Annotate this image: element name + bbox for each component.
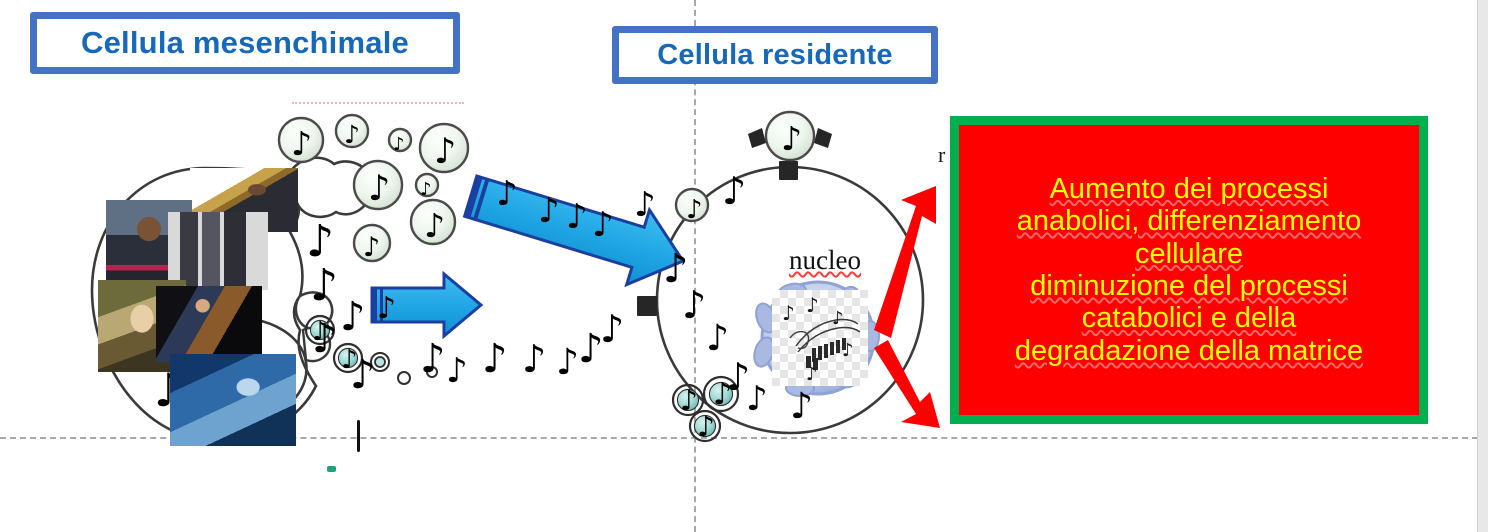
svg-text:♪: ♪ <box>420 336 446 382</box>
svg-text:♪: ♪ <box>446 351 468 391</box>
svg-text:♪: ♪ <box>806 364 818 385</box>
svg-text:♪: ♪ <box>680 384 698 417</box>
saxophone-player-photo <box>170 354 296 446</box>
svg-text:♪: ♪ <box>312 317 329 347</box>
label-cellula-mesenchimale-text: Cellula mesenchimale <box>81 25 409 61</box>
callout-line-6: degradazione della matrice <box>1015 335 1363 367</box>
svg-text:♪: ♪ <box>424 206 445 245</box>
svg-text:♪: ♪ <box>482 336 508 382</box>
svg-text:♪: ♪ <box>566 197 588 237</box>
stray-character: r <box>938 142 945 168</box>
effects-callout-box[interactable]: Aumento dei processi anabolici, differen… <box>950 116 1428 424</box>
svg-text:♪: ♪ <box>393 134 405 155</box>
svg-text:♪: ♪ <box>686 195 703 225</box>
effects-callout-text: Aumento dei processi anabolici, differen… <box>1015 173 1363 368</box>
svg-text:♪: ♪ <box>790 386 813 427</box>
callout-line-1: Aumento dei processi <box>1050 173 1329 205</box>
musician-photo-collage <box>98 168 308 446</box>
nucleus-label: nucleo <box>789 245 861 276</box>
label-cellula-residente-text: Cellula residente <box>657 39 893 72</box>
svg-text:♪: ♪ <box>522 337 546 381</box>
nucleus-label-text: nucleo <box>789 245 861 275</box>
svg-text:♪: ♪ <box>600 307 624 351</box>
svg-text:♪: ♪ <box>538 191 560 231</box>
svg-text:♪: ♪ <box>368 169 390 209</box>
label-cellula-residente[interactable]: Cellula residente <box>612 26 938 84</box>
response-arrows <box>874 186 940 428</box>
svg-text:♪: ♪ <box>363 232 380 263</box>
svg-text:♪: ♪ <box>706 318 729 359</box>
u2-band-photo <box>168 212 268 290</box>
svg-text:♪: ♪ <box>842 340 854 361</box>
stray-teal-mark <box>327 466 336 472</box>
svg-text:♪: ♪ <box>634 185 656 225</box>
label-cellula-mesenchimale[interactable]: Cellula mesenchimale <box>30 12 460 74</box>
svg-text:♪: ♪ <box>340 294 366 340</box>
svg-text:♪: ♪ <box>592 205 614 245</box>
svg-text:♪: ♪ <box>782 301 795 325</box>
svg-text:♪: ♪ <box>496 174 518 214</box>
nucleus-score-image: ♪ ♪ ♪ ♪ ♪ <box>772 290 868 386</box>
callout-line-3: cellulare <box>1135 238 1243 270</box>
svg-text:♪: ♪ <box>434 132 456 172</box>
slide-canvas: ♪ ♪ ♪ ♪ ♪ ♪ ♪ ♪ ♪ ♪ ♪ ♪ ♪ ♪ ♪ ♪ ♪ ♪ ♪ ♪ … <box>0 0 1488 532</box>
svg-text:♪: ♪ <box>781 119 802 158</box>
svg-text:♪: ♪ <box>682 283 706 327</box>
stray-tick-mark <box>357 420 360 452</box>
callout-line-5: catabolici e della <box>1082 302 1296 334</box>
callout-line-2: anabolici, differenziamento <box>1017 205 1361 237</box>
svg-text:♪: ♪ <box>722 169 746 213</box>
svg-text:♪: ♪ <box>344 120 360 149</box>
svg-text:♪: ♪ <box>310 260 338 311</box>
svg-text:♪: ♪ <box>377 291 396 326</box>
svg-text:♪: ♪ <box>291 124 312 163</box>
svg-text:♪: ♪ <box>556 342 579 383</box>
svg-text:♪: ♪ <box>832 308 844 329</box>
svg-text:♪: ♪ <box>697 410 715 443</box>
callout-line-4: diminuzione del processi <box>1030 270 1348 302</box>
svg-text:♪: ♪ <box>341 345 358 375</box>
springsteen-photo <box>156 286 262 362</box>
svg-text:♪: ♪ <box>420 179 432 200</box>
svg-text:♪: ♪ <box>746 379 768 419</box>
svg-text:♪: ♪ <box>806 293 819 317</box>
